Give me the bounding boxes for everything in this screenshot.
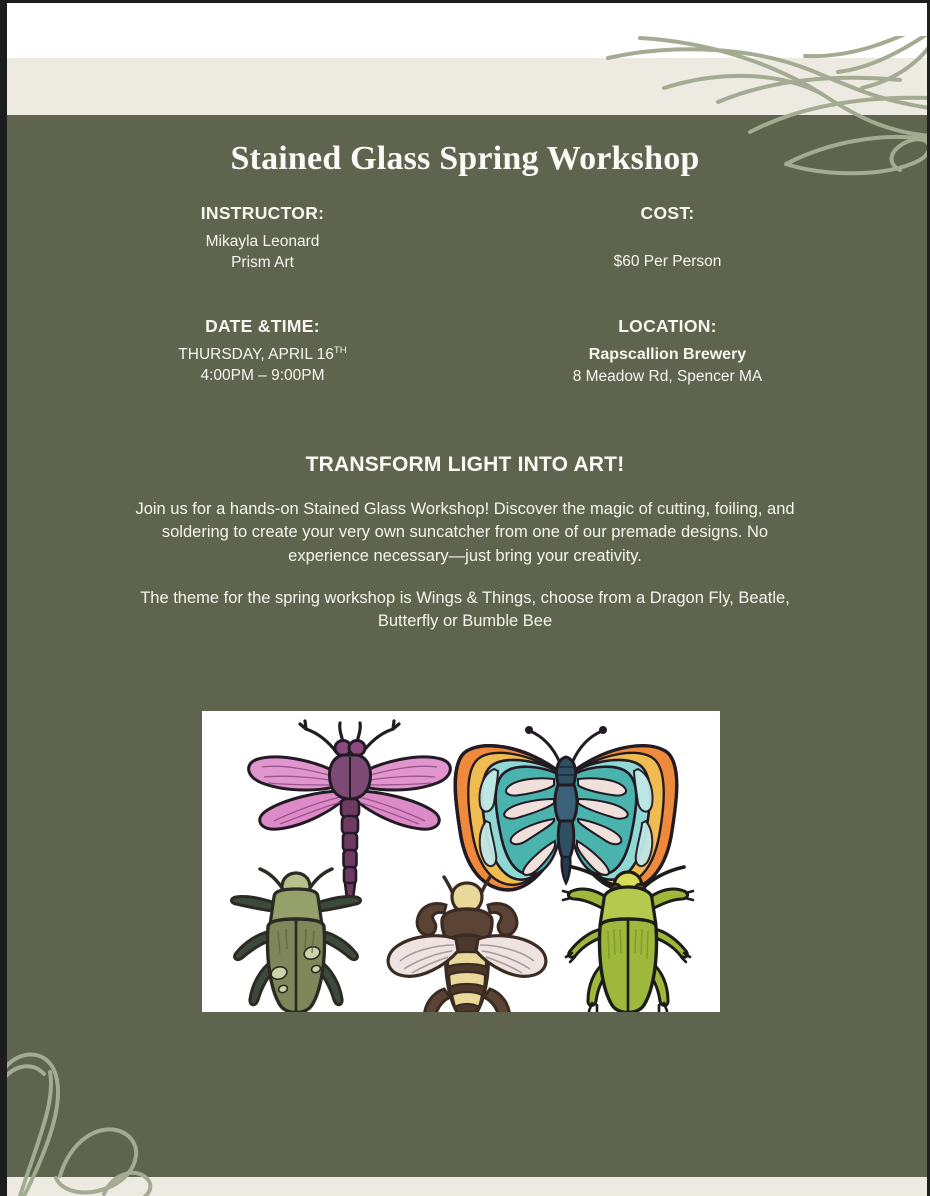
scan-edge-top (0, 0, 930, 3)
cost-block: COST: $60 Per Person (465, 203, 870, 274)
datetime-heading: DATE &TIME: (60, 316, 465, 337)
event-details-grid: INSTRUCTOR: Mikayla Leonard Prism Art CO… (60, 203, 870, 387)
location-heading: LOCATION: (465, 316, 870, 337)
event-date: THURSDAY, APRIL 16TH (60, 344, 465, 366)
instructor-name: Mikayla Leonard (60, 231, 465, 252)
event-time: 4:00PM – 9:00PM (60, 365, 465, 386)
details-row-2: DATE &TIME: THURSDAY, APRIL 16TH 4:00PM … (60, 316, 870, 387)
event-date-ordinal: TH (334, 345, 347, 356)
body-headline: TRANSFORM LIGHT INTO ART! (0, 453, 930, 477)
body-paragraph-1: Join us for a hands-on Stained Glass Wor… (135, 498, 795, 568)
instructor-heading: INSTRUCTOR: (60, 203, 465, 224)
location-address: 8 Meadow Rd, Spencer MA (465, 366, 870, 387)
datetime-block: DATE &TIME: THURSDAY, APRIL 16TH 4:00PM … (60, 316, 465, 387)
instructor-block: INSTRUCTOR: Mikayla Leonard Prism Art (60, 203, 465, 274)
event-date-text: THURSDAY, APRIL 16 (178, 346, 334, 363)
location-block: LOCATION: Rapscallion Brewery 8 Meadow R… (465, 316, 870, 387)
cost-value: $60 Per Person (465, 251, 870, 272)
cost-spacer (465, 231, 870, 251)
cost-heading: COST: (465, 203, 870, 224)
body-paragraph-2: The theme for the spring workshop is Win… (135, 587, 795, 634)
details-row-1: INSTRUCTOR: Mikayla Leonard Prism Art CO… (60, 203, 870, 274)
instructor-studio: Prism Art (60, 252, 465, 273)
suncatcher-designs-image (202, 711, 720, 1012)
flyer-page: Stained Glass Spring Workshop INSTRUCTOR… (0, 0, 930, 1196)
page-title: Stained Glass Spring Workshop (0, 140, 930, 178)
scan-edge-left (0, 0, 7, 1196)
location-venue: Rapscallion Brewery (465, 344, 870, 366)
